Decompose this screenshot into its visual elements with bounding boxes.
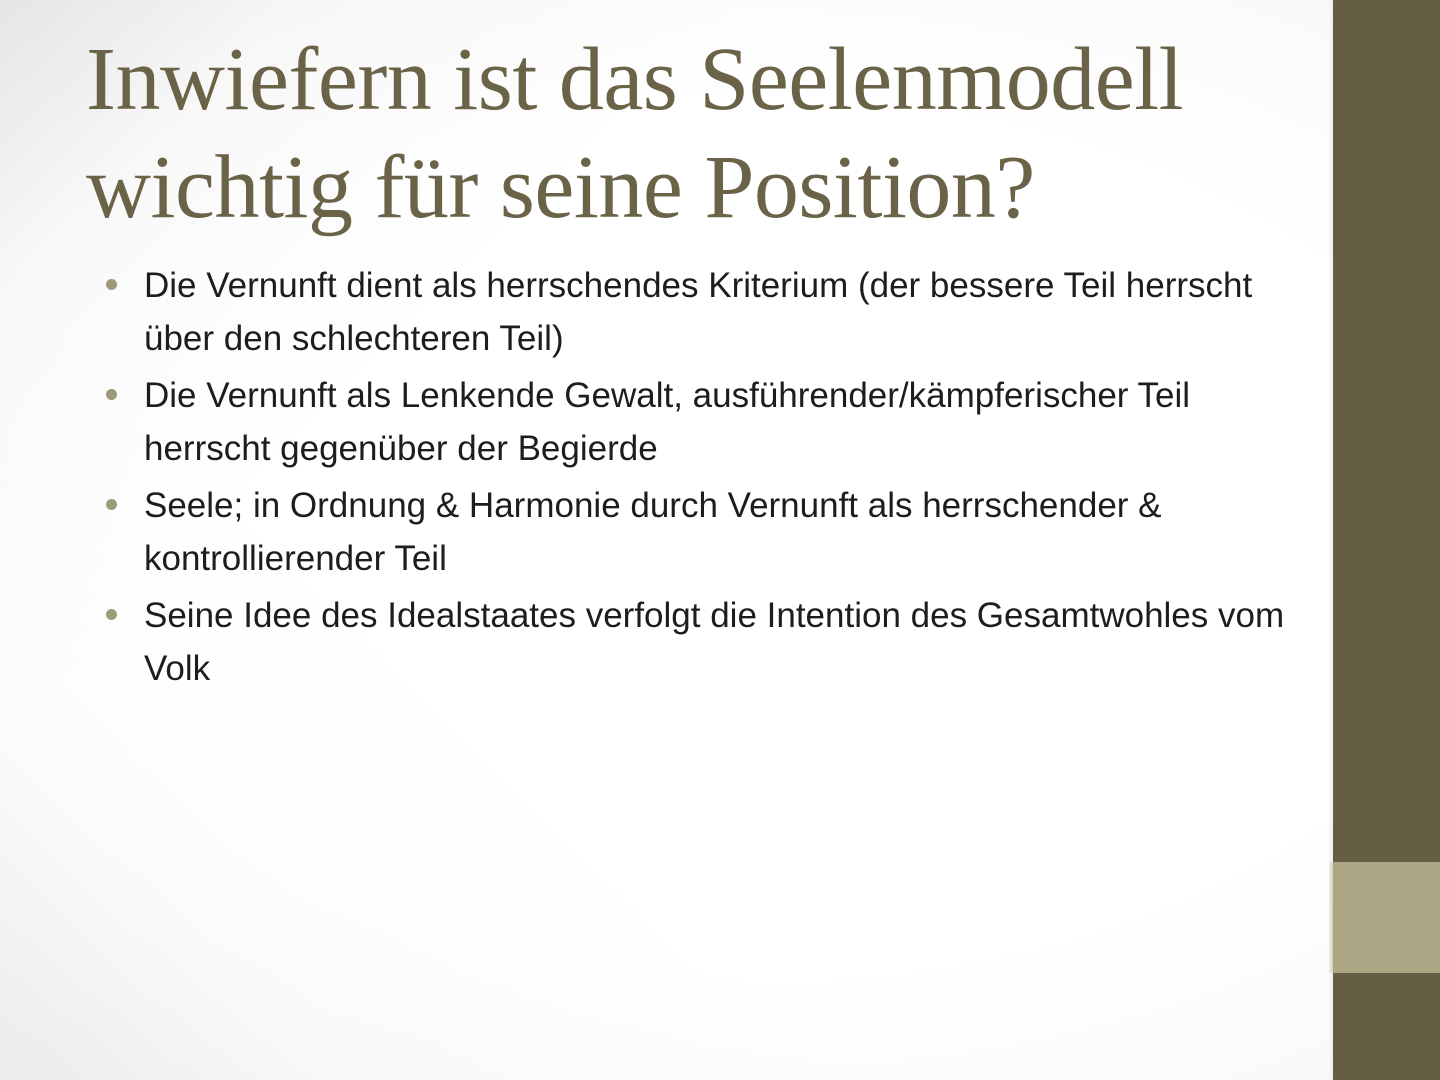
bullet-dot-icon xyxy=(106,609,117,620)
list-item-text: Seele; in Ordnung & Harmonie durch Vernu… xyxy=(144,479,1296,585)
list-item-text: Seine Idee des Idealstaates verfolgt die… xyxy=(144,589,1296,695)
right-decorative-band-edge-highlight xyxy=(1329,0,1333,1080)
list-item-text: Die Vernunft als Lenkende Gewalt, ausfüh… xyxy=(144,369,1296,475)
bullet-dot-icon xyxy=(106,389,117,400)
slide: Inwiefern ist das Seelenmodell wichtig f… xyxy=(0,0,1440,1080)
list-item: Seele; in Ordnung & Harmonie durch Vernu… xyxy=(96,479,1296,585)
list-item: Die Vernunft dient als herrschendes Krit… xyxy=(96,259,1296,365)
right-decorative-band-accent-stripe xyxy=(1329,862,1440,973)
list-item: Seine Idee des Idealstaates verfolgt die… xyxy=(96,589,1296,695)
slide-title: Inwiefern ist das Seelenmodell wichtig f… xyxy=(86,26,1286,242)
list-item: Die Vernunft als Lenkende Gewalt, ausfüh… xyxy=(96,369,1296,475)
bullet-dot-icon xyxy=(106,279,117,290)
bullet-dot-icon xyxy=(106,499,117,510)
bullet-list: Die Vernunft dient als herrschendes Krit… xyxy=(96,259,1296,699)
list-item-text: Die Vernunft dient als herrschendes Krit… xyxy=(144,259,1296,365)
